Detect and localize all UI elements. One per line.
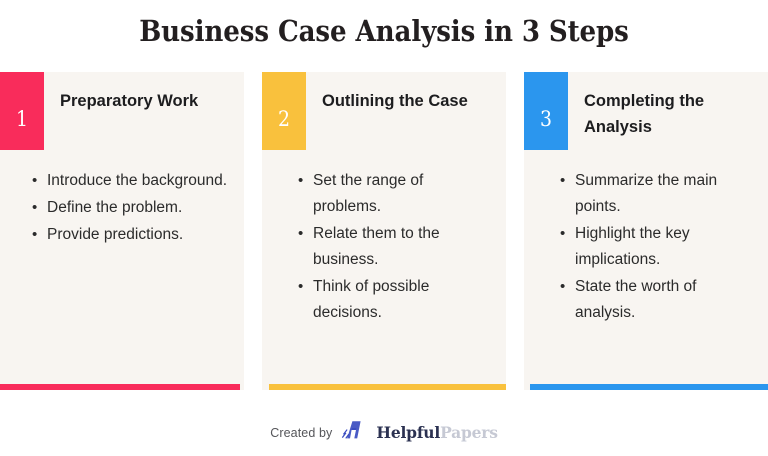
created-by-label: Created by (270, 426, 332, 440)
step-card-3-header: 3 Completing the Analysis (524, 72, 768, 152)
list-item: Think of possible decisions. (298, 274, 492, 326)
list-item: State the worth of analysis. (560, 274, 754, 326)
step-accent-bar-3 (530, 384, 768, 390)
helpful-papers-logo-icon (341, 419, 367, 446)
step-title-2: Outlining the Case (306, 72, 476, 114)
step-number-badge-1: 1 (0, 72, 44, 150)
step-bullets-3: Summarize the main points. Highlight the… (524, 168, 768, 327)
list-item: Provide predictions. (32, 222, 230, 248)
list-item: Relate them to the business. (298, 221, 492, 273)
step-card-1: 1 Preparatory Work Introduce the backgro… (0, 72, 244, 390)
step-card-2-header: 2 Outlining the Case (262, 72, 506, 152)
page-title: Business Case Analysis in 3 Steps (0, 0, 768, 49)
step-title-3: Completing the Analysis (568, 72, 768, 140)
step-bullets-1: Introduce the background. Define the pro… (0, 168, 244, 249)
footer: Created by HelpfulPapers (0, 419, 768, 446)
step-card-2: 2 Outlining the Case Set the range of pr… (262, 72, 506, 390)
step-accent-bar-2 (269, 384, 506, 390)
step-card-1-header: 1 Preparatory Work (0, 72, 244, 152)
list-item: Define the problem. (32, 195, 230, 221)
steps-container: 1 Preparatory Work Introduce the backgro… (0, 72, 768, 390)
brand-wordmark: HelpfulPapers (376, 423, 497, 442)
step-title-1: Preparatory Work (44, 72, 206, 114)
brand-primary: Helpful (376, 423, 440, 442)
brand-secondary: Papers (440, 423, 498, 442)
list-item: Set the range of problems. (298, 168, 492, 220)
step-number-badge-2: 2 (262, 72, 306, 150)
step-card-3: 3 Completing the Analysis Summarize the … (524, 72, 768, 390)
list-item: Summarize the main points. (560, 168, 754, 220)
step-bullets-2: Set the range of problems. Relate them t… (262, 168, 506, 327)
step-accent-bar-1 (0, 384, 240, 390)
step-number-badge-3: 3 (524, 72, 568, 150)
list-item: Highlight the key implications. (560, 221, 754, 273)
list-item: Introduce the background. (32, 168, 230, 194)
